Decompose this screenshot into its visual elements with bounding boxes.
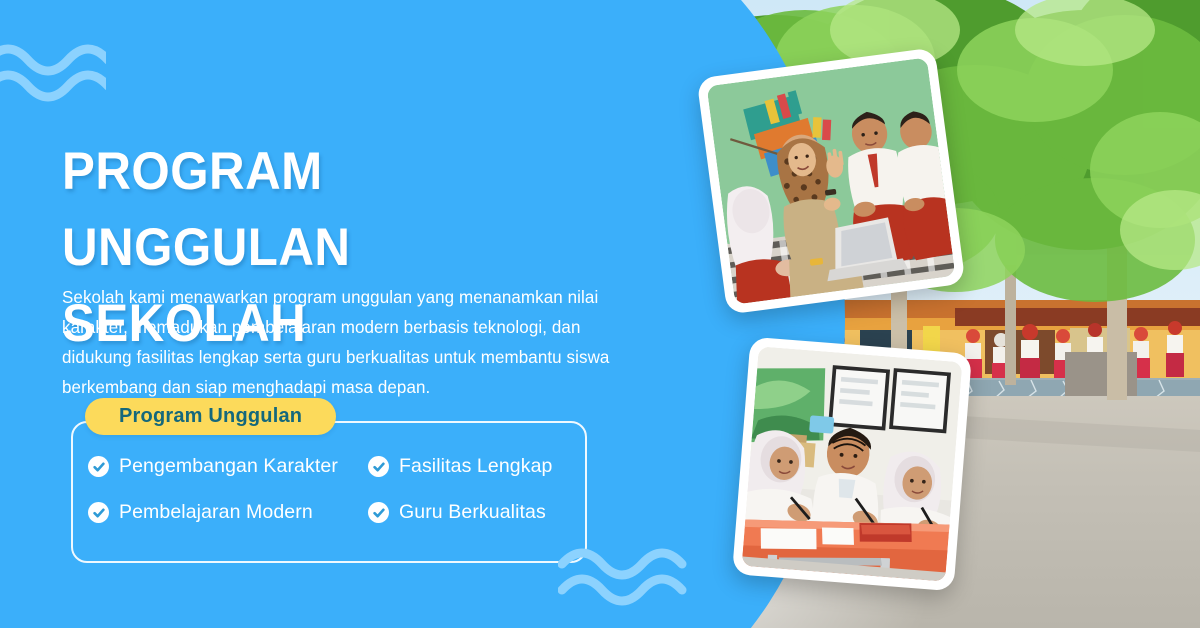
feature-item-pembelajaran-modern[interactable]: Pembelajaran Modern (88, 501, 368, 524)
feature-item-fasilitas-lengkap[interactable]: Fasilitas Lengkap (368, 455, 588, 478)
check-circle-icon (88, 502, 109, 523)
teacher-with-students-photo (707, 57, 956, 304)
students-writing-photo (742, 346, 963, 581)
teacher-with-students-photo-card (696, 47, 965, 314)
wave-lines-icon (0, 34, 106, 104)
feature-box-badge: Program Unggulan (85, 398, 336, 435)
wave-lines-icon (558, 540, 688, 610)
feature-item-label: Guru Berkualitas (399, 501, 546, 524)
check-circle-icon (368, 502, 389, 523)
feature-list: Pengembangan Karakter Fasilitas Lengkap … (88, 455, 588, 524)
feature-item-label: Pengembangan Karakter (119, 455, 338, 478)
promo-banner: PROGRAM UNGGULAN SEKOLAH Sekolah kami me… (0, 0, 1200, 628)
feature-item-label: Fasilitas Lengkap (399, 455, 552, 478)
check-circle-icon (88, 456, 109, 477)
feature-item-guru-berkualitas[interactable]: Guru Berkualitas (368, 501, 588, 524)
feature-item-label: Pembelajaran Modern (119, 501, 313, 524)
check-circle-icon (368, 456, 389, 477)
intro-paragraph: Sekolah kami menawarkan program unggulan… (62, 282, 639, 402)
students-writing-photo-card (732, 337, 972, 592)
content-column: PROGRAM UNGGULAN SEKOLAH Sekolah kami me… (0, 0, 660, 628)
feature-item-pengembangan-karakter[interactable]: Pengembangan Karakter (88, 455, 368, 478)
